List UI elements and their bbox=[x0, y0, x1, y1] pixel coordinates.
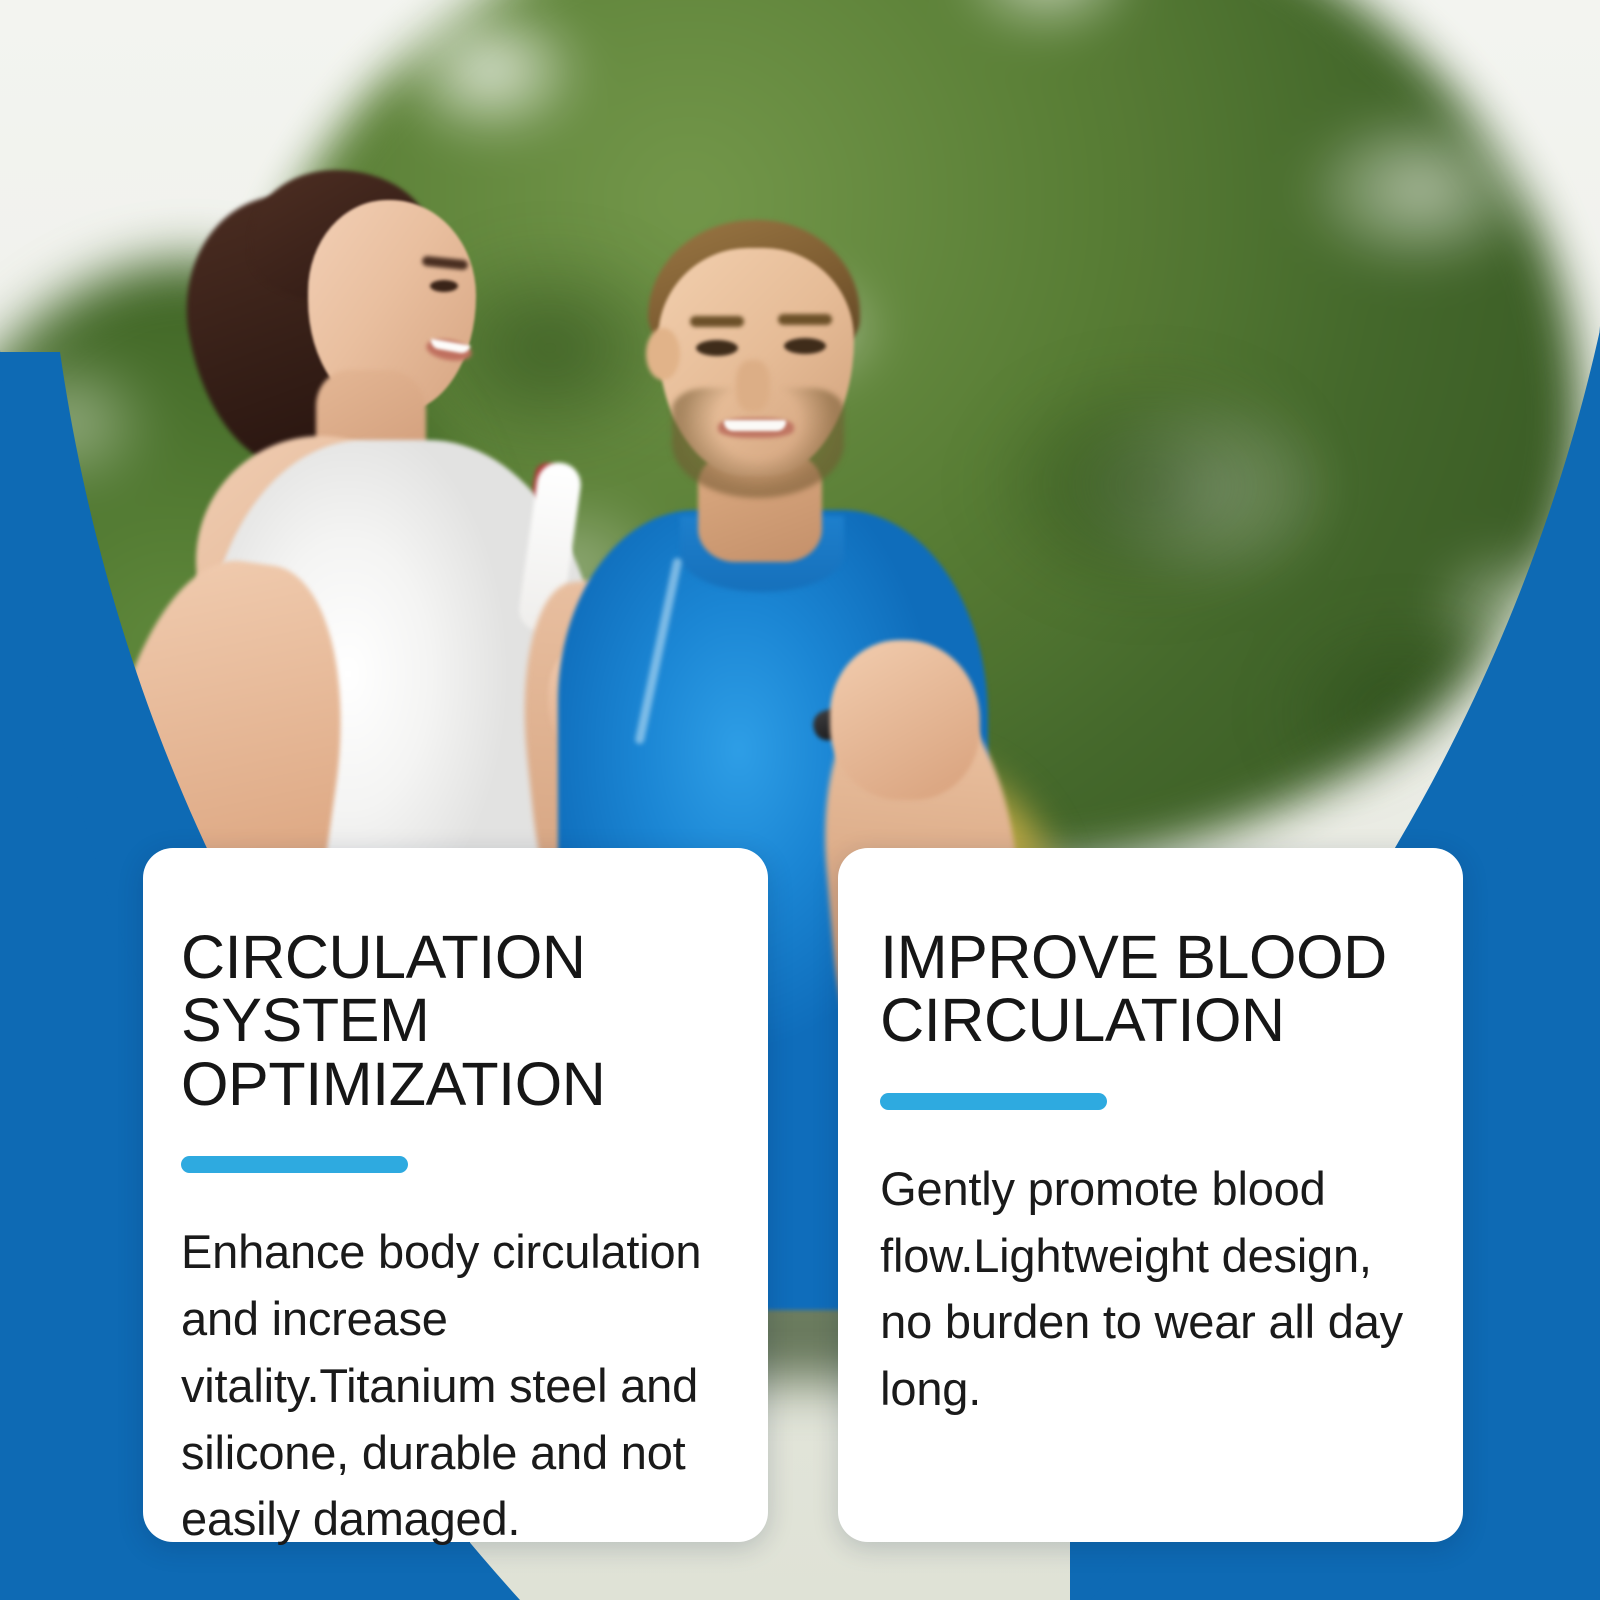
card-title: IMPROVE BLOOD CIRCULATION bbox=[880, 926, 1423, 1053]
product-feature-banner: CIRCULATION SYSTEM OPTIMIZATION Enhance … bbox=[0, 0, 1600, 1600]
man-right-eyebrow bbox=[778, 314, 832, 325]
card-body-text: Enhance body circulation and increase vi… bbox=[181, 1219, 714, 1553]
feature-cards: CIRCULATION SYSTEM OPTIMIZATION Enhance … bbox=[143, 848, 1463, 1548]
man-teeth bbox=[724, 420, 786, 431]
feature-card-circulation-system-optimization[interactable]: CIRCULATION SYSTEM OPTIMIZATION Enhance … bbox=[143, 848, 768, 1542]
feature-card-improve-blood-circulation[interactable]: IMPROVE BLOOD CIRCULATION Gently promote… bbox=[838, 848, 1463, 1542]
woman-eye bbox=[430, 280, 458, 292]
man-left-eye bbox=[696, 340, 738, 356]
man-nose bbox=[736, 360, 770, 412]
card-body-text: Gently promote blood flow.Lightweight de… bbox=[880, 1156, 1423, 1423]
man-right-hand bbox=[830, 640, 980, 800]
man-right-eye bbox=[784, 338, 826, 354]
card-title: CIRCULATION SYSTEM OPTIMIZATION bbox=[181, 926, 714, 1116]
card-accent-bar bbox=[880, 1093, 1107, 1110]
card-accent-bar bbox=[181, 1156, 408, 1173]
man-ear bbox=[646, 328, 680, 380]
man-left-eyebrow bbox=[690, 316, 744, 327]
